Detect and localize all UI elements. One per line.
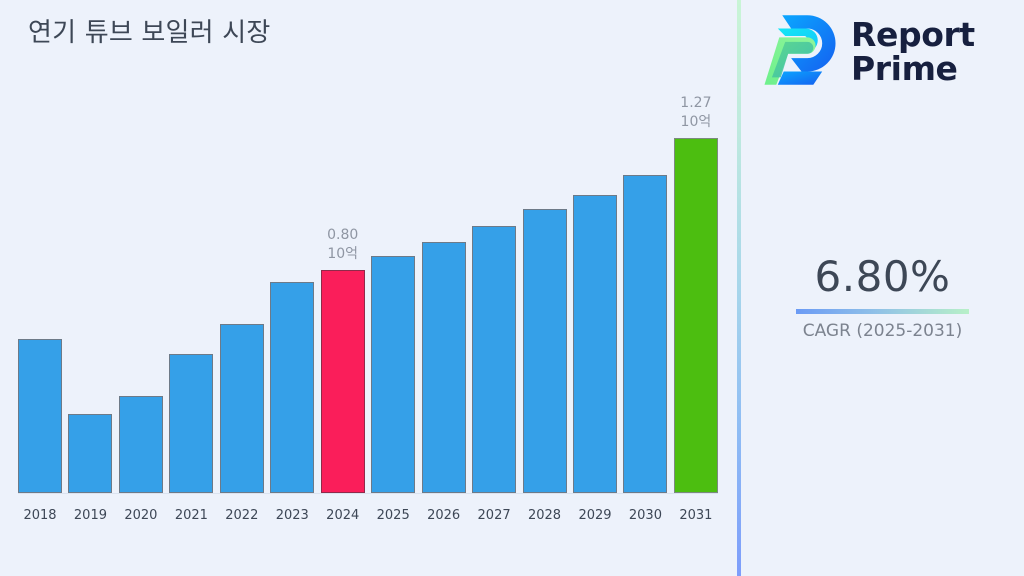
bar-2030[interactable] — [623, 175, 667, 493]
bar-slot: 1.2710억 — [674, 120, 718, 493]
x-tick-2029: 2029 — [573, 508, 617, 523]
bar-2019[interactable] — [68, 414, 112, 493]
bar-2031[interactable] — [674, 138, 718, 493]
bar-2026[interactable] — [422, 242, 466, 493]
bar-2023[interactable] — [270, 282, 314, 493]
report-prime-r-mark-icon — [763, 12, 837, 92]
bar-2018[interactable] — [18, 339, 62, 493]
bar-2028[interactable] — [523, 209, 567, 493]
x-tick-2024: 2024 — [321, 508, 365, 523]
bar-2029[interactable] — [573, 195, 617, 493]
bar-slot — [270, 120, 314, 493]
bar-value-label: 0.8010억 — [327, 226, 358, 264]
bar-value-label: 1.2710억 — [680, 94, 711, 132]
report-prime-logo: Report Prime — [763, 12, 975, 92]
chart-baseline — [18, 493, 718, 494]
bar-slot — [623, 120, 667, 493]
x-tick-2025: 2025 — [371, 508, 415, 523]
bar-2024[interactable] — [321, 270, 365, 493]
bar-slot — [422, 120, 466, 493]
bar-slot — [119, 120, 163, 493]
brand-name-line2: Prime — [851, 52, 975, 86]
brand-name-line1: Report — [851, 18, 975, 52]
x-tick-2026: 2026 — [422, 508, 466, 523]
bar-slot — [472, 120, 516, 493]
brand-panel: Report Prime 6.80% CAGR (2025-2031) — [741, 0, 1024, 576]
x-tick-2020: 2020 — [119, 508, 163, 523]
x-tick-2019: 2019 — [68, 508, 112, 523]
brand-name: Report Prime — [851, 18, 975, 86]
x-tick-2018: 2018 — [18, 508, 62, 523]
bar-chart-plot-area: 0.8010억1.2710억 2018201920202021202220232… — [0, 120, 737, 535]
x-tick-2028: 2028 — [523, 508, 567, 523]
x-tick-2027: 2027 — [472, 508, 516, 523]
x-tick-2023: 2023 — [270, 508, 314, 523]
bar-slot — [68, 120, 112, 493]
cagr-divider-rule — [796, 309, 969, 314]
x-tick-2021: 2021 — [169, 508, 213, 523]
bar-2025[interactable] — [371, 256, 415, 493]
x-tick-2022: 2022 — [220, 508, 264, 523]
bar-value-label-line1: 0.80 — [327, 227, 358, 243]
bar-series: 0.8010억1.2710억 — [18, 120, 718, 493]
bar-2027[interactable] — [472, 226, 516, 493]
x-axis-tick-labels: 2018201920202021202220232024202520262027… — [18, 495, 718, 535]
chart-title: 연기 튜브 보일러 시장 — [28, 12, 270, 49]
bar-2020[interactable] — [119, 396, 163, 493]
x-tick-2030: 2030 — [623, 508, 667, 523]
cagr-value: 6.80% — [741, 252, 1024, 301]
bar-slot — [573, 120, 617, 493]
chart-panel: 연기 튜브 보일러 시장 0.8010억1.2710억 201820192020… — [0, 0, 737, 576]
bar-2021[interactable] — [169, 354, 213, 493]
x-tick-2031: 2031 — [674, 508, 718, 523]
bar-slot: 0.8010억 — [321, 120, 365, 493]
bar-2022[interactable] — [220, 324, 264, 493]
bar-slot — [523, 120, 567, 493]
bar-value-label-line2: 10억 — [327, 245, 358, 264]
bar-slot — [18, 120, 62, 493]
bar-slot — [220, 120, 264, 493]
bar-slot — [371, 120, 415, 493]
cagr-block: 6.80% CAGR (2025-2031) — [741, 252, 1024, 341]
bar-value-label-line1: 1.27 — [680, 95, 711, 111]
bar-value-label-line2: 10억 — [680, 113, 711, 132]
bar-slot — [169, 120, 213, 493]
cagr-caption: CAGR (2025-2031) — [741, 321, 1024, 341]
